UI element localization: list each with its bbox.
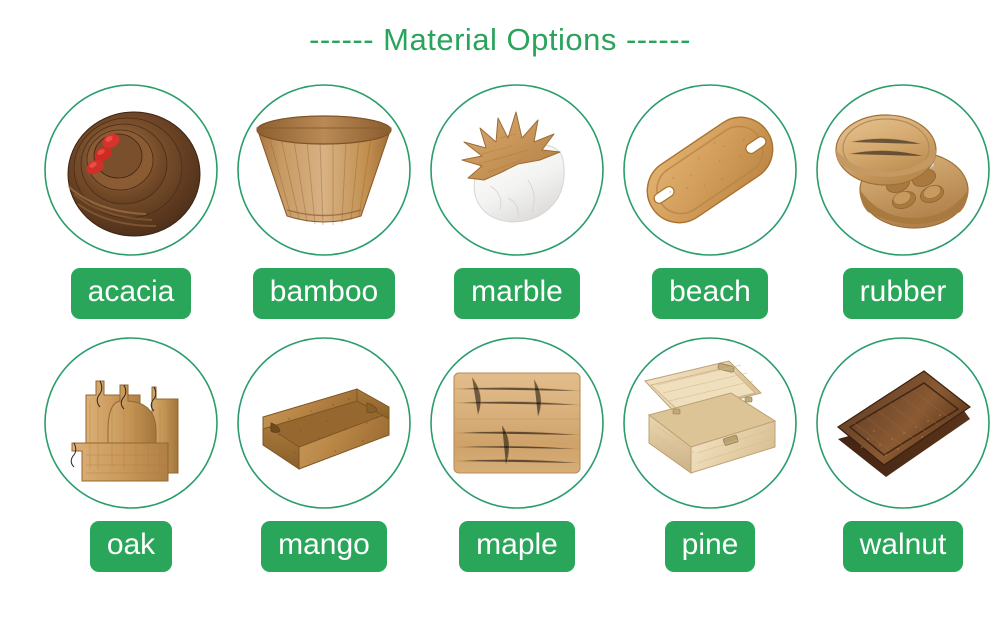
option-card-beach[interactable]: beach <box>615 82 805 335</box>
image-frame <box>621 335 799 511</box>
bamboo-bowl-photo <box>249 94 399 246</box>
beech-oval-tray-photo <box>635 94 785 246</box>
image-frame <box>235 82 413 258</box>
image-frame <box>814 82 992 258</box>
material-label-badge[interactable]: rubber <box>843 268 964 319</box>
material-label-badge[interactable]: maple <box>459 521 575 572</box>
option-card-bamboo[interactable]: bamboo <box>229 82 419 335</box>
option-card-rubber[interactable]: rubber <box>808 82 998 335</box>
image-frame <box>42 82 220 258</box>
material-label-badge[interactable]: acacia <box>71 268 192 319</box>
material-label-badge[interactable]: marble <box>454 268 580 319</box>
image-frame <box>42 335 220 511</box>
acacia-wood-plates-photo <box>56 94 206 246</box>
material-label-badge[interactable]: bamboo <box>253 268 395 319</box>
material-label-badge[interactable]: mango <box>261 521 387 572</box>
rubberwood-cheese-board-photo <box>828 94 978 246</box>
image-frame <box>814 335 992 511</box>
options-grid: acacia <box>0 82 1000 588</box>
options-row: oak <box>0 335 1000 588</box>
oak-cutting-boards-photo <box>56 347 206 499</box>
material-options-page: ------ Material Options ------ <box>0 0 1000 634</box>
image-frame <box>428 335 606 511</box>
material-label-badge[interactable]: beach <box>652 268 768 319</box>
material-label-badge[interactable]: pine <box>665 521 756 572</box>
option-card-pine[interactable]: pine <box>615 335 805 588</box>
options-row: acacia <box>0 82 1000 335</box>
marble-pineapple-board-photo <box>442 94 592 246</box>
material-label-badge[interactable]: walnut <box>843 521 964 572</box>
option-card-mango[interactable]: mango <box>229 335 419 588</box>
image-frame <box>235 335 413 511</box>
image-frame <box>621 82 799 258</box>
maple-board-photo <box>442 347 592 499</box>
option-card-acacia[interactable]: acacia <box>36 82 226 335</box>
image-frame <box>428 82 606 258</box>
material-label-badge[interactable]: oak <box>90 521 172 572</box>
option-card-oak[interactable]: oak <box>36 335 226 588</box>
option-card-marble[interactable]: marble <box>422 82 612 335</box>
option-card-maple[interactable]: maple <box>422 335 612 588</box>
walnut-board-photo <box>828 347 978 499</box>
page-title: ------ Material Options ------ <box>0 22 1000 58</box>
pine-box-photo <box>635 347 785 499</box>
option-card-walnut[interactable]: walnut <box>808 335 998 588</box>
mango-wood-tray-photo <box>249 347 399 499</box>
